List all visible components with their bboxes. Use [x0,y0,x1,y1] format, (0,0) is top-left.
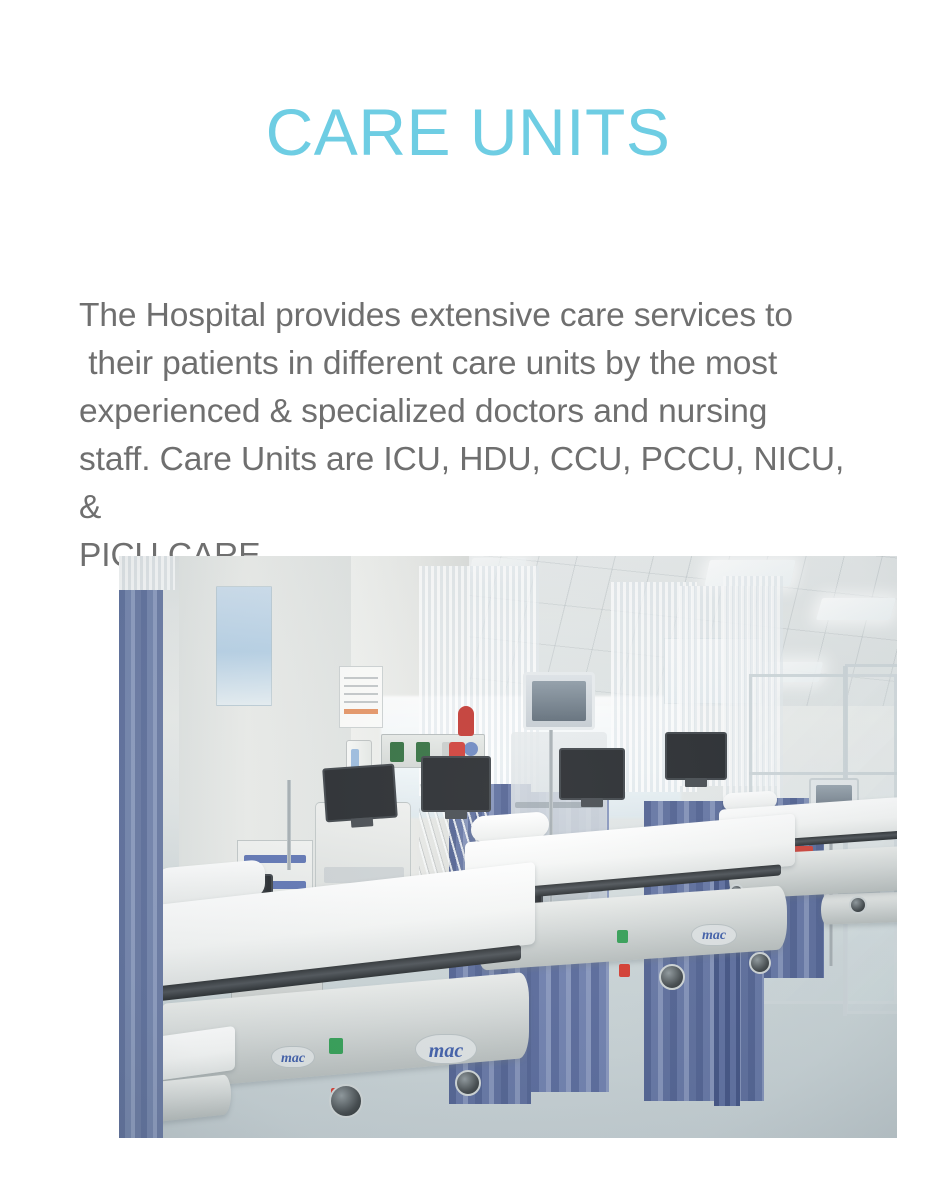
bedside-monitor [421,756,491,812]
brake-pedal-green [329,1038,343,1054]
caster-wheel [659,964,685,990]
bedside-monitor [559,748,625,800]
stretcher-brand-badge: mac [271,1046,315,1068]
stretcher-brand-badge: mac [691,924,737,946]
curtain-mesh-header [119,556,175,590]
bedside-monitor [665,732,727,780]
stretcher-brand-badge: mac [415,1034,477,1064]
privacy-curtain-foreground [119,556,163,1138]
glass-mullion [749,772,897,775]
caster-wheel [455,1070,481,1096]
brake-pedal-green [617,930,628,943]
suction-canister [458,706,474,736]
ceiling-light [816,598,896,620]
caster-wheel [849,896,867,914]
wall-poster [339,666,383,728]
page-title: CARE UNITS [0,99,936,165]
brake-pedal-red [619,964,630,977]
page-root: CARE UNITS The Hospital provides extensi… [0,0,936,1200]
care-unit-photo-image: mac mac mac [119,556,897,1138]
caster-wheel [749,952,771,974]
vital-signs-monitor [523,672,595,730]
care-units-description: The Hospital provides extensive care ser… [79,292,865,580]
window [216,586,272,706]
caster-wheel [329,1084,363,1118]
bedside-monitor [322,764,398,823]
care-unit-photo: mac mac mac [119,556,897,1138]
